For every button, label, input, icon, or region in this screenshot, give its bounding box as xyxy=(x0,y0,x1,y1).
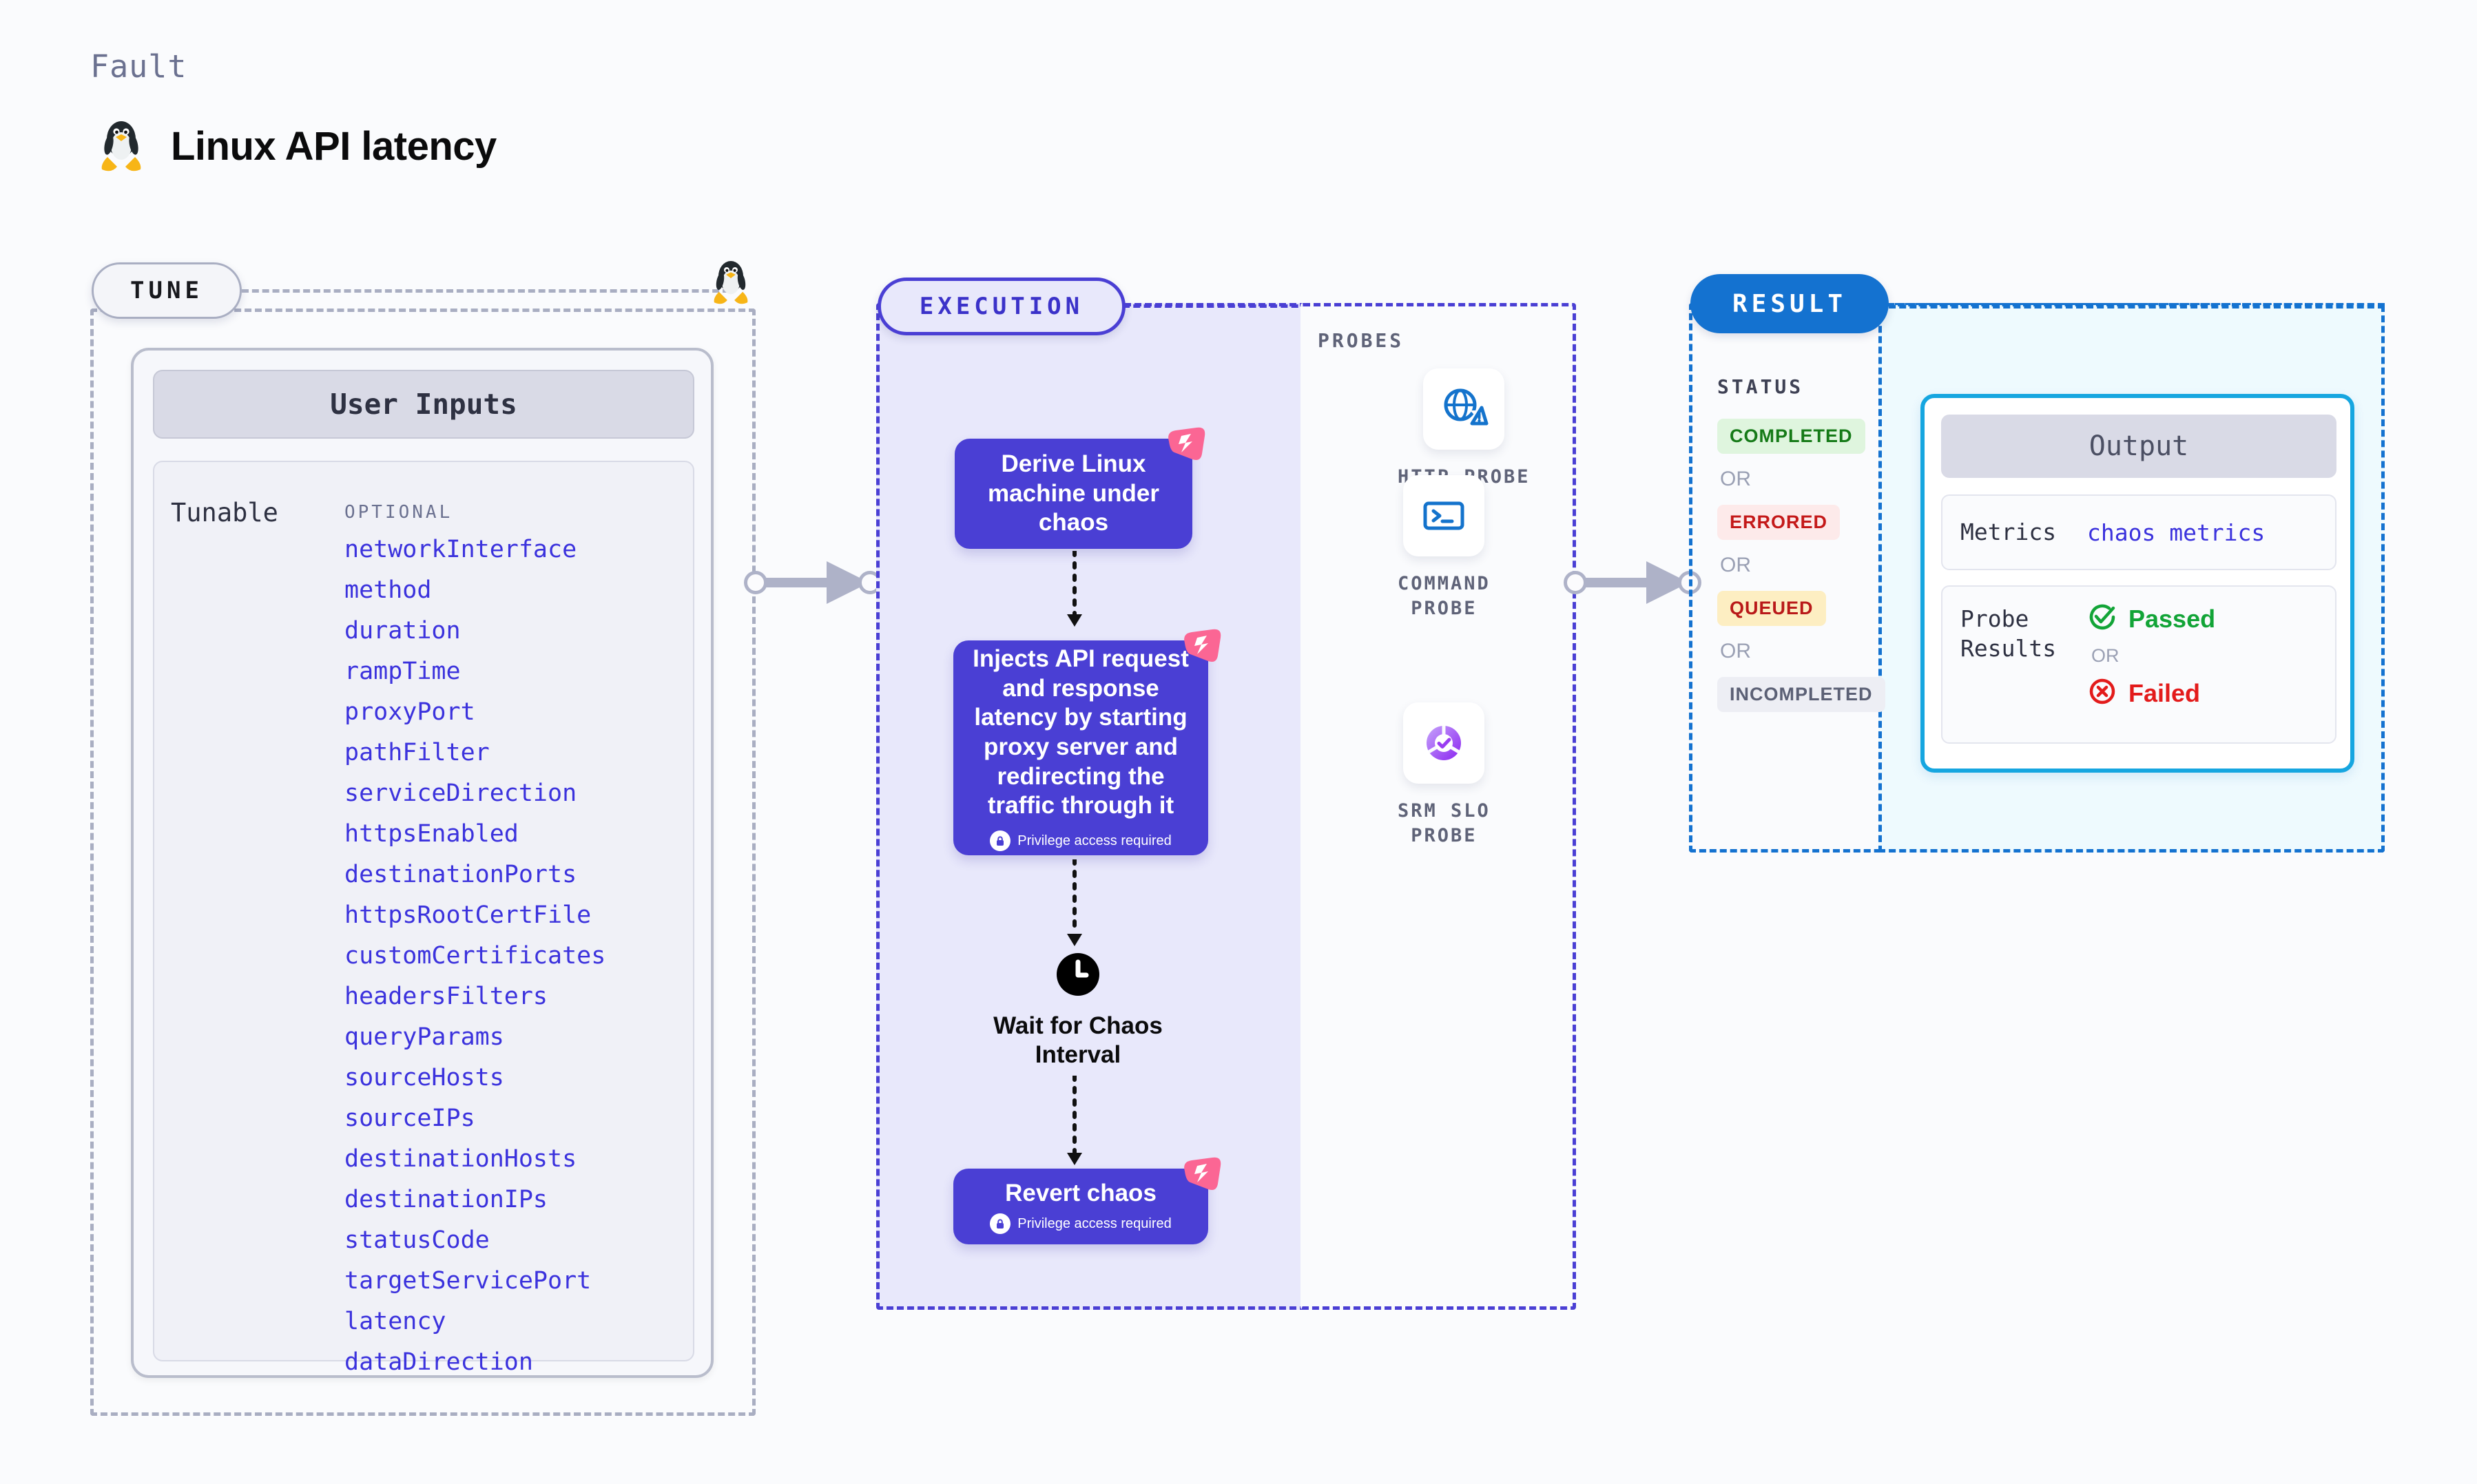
param-item[interactable]: destinationHosts xyxy=(344,1147,689,1171)
slo-donut-check-icon xyxy=(1403,702,1484,784)
linux-penguin-icon-small xyxy=(709,256,752,312)
param-item[interactable]: sourceIPs xyxy=(344,1107,689,1131)
output-row-metrics: Metrics chaos metrics xyxy=(1941,494,2336,570)
privilege-note: Privilege access required xyxy=(990,1213,1171,1234)
probe-results-key-label: Probe Results xyxy=(1942,587,2087,664)
execution-step-derive[interactable]: Derive Linux machine under chaos xyxy=(955,439,1192,549)
probe-results-values: Passed OR Failed xyxy=(2087,587,2215,710)
param-item[interactable]: destinationPorts xyxy=(344,863,689,887)
tune-pill-connector-line xyxy=(242,289,729,293)
x-circle-icon xyxy=(2087,676,2117,710)
result-stage-pill[interactable]: RESULT xyxy=(1690,274,1889,333)
param-item[interactable]: statusCode xyxy=(344,1229,689,1253)
param-item[interactable]: latency xyxy=(344,1310,689,1334)
param-item[interactable]: rampTime xyxy=(344,660,689,684)
execution-pill-connector-line xyxy=(1123,304,1309,308)
status-list: COMPLETED OR ERRORED OR QUEUED OR INCOMP… xyxy=(1717,419,1924,712)
flow-arrow-2 xyxy=(1061,859,1088,951)
param-item[interactable]: duration xyxy=(344,619,689,643)
optional-label: OPTIONAL xyxy=(344,502,453,523)
param-item[interactable]: pathFilter xyxy=(344,741,689,765)
flow-arrow-3 xyxy=(1061,1076,1088,1170)
user-inputs-card-title: User Inputs xyxy=(153,370,694,439)
probe-failed-label: Failed xyxy=(2128,679,2200,708)
param-item[interactable]: proxyPort xyxy=(344,700,689,724)
status-badge-completed: COMPLETED xyxy=(1717,419,1865,454)
probe-http[interactable]: HTTP PROBE xyxy=(1398,368,1531,490)
wait-for-chaos-node[interactable]: Wait for Chaos Interval xyxy=(978,952,1178,1069)
output-card: Output Metrics chaos metrics Probe Resul… xyxy=(1920,394,2354,773)
execution-step-label: Injects API request and response latency… xyxy=(953,645,1208,821)
tunable-label: Tunable xyxy=(171,498,278,527)
diagram-canvas: Fault Linux API latency TUNE xyxy=(0,0,2477,1484)
param-item[interactable]: method xyxy=(344,578,689,603)
lock-icon xyxy=(990,830,1011,851)
linux-penguin-icon xyxy=(96,116,146,176)
tunable-param-list: networkInterface method duration rampTim… xyxy=(344,538,689,1391)
execution-stage-pill[interactable]: EXECUTION xyxy=(878,278,1126,335)
param-item[interactable]: networkInterface xyxy=(344,538,689,562)
param-item[interactable]: httpsRootCertFile xyxy=(344,903,689,928)
param-item[interactable]: targetServicePort xyxy=(344,1269,689,1293)
probe-passed-label: Passed xyxy=(2128,605,2215,634)
probe-label: COMMAND PROBE xyxy=(1398,572,1491,622)
execution-step-inject[interactable]: Injects API request and response latency… xyxy=(953,640,1208,855)
metrics-key-label: Metrics xyxy=(1942,518,2087,547)
status-badge-queued: QUEUED xyxy=(1717,591,1826,626)
status-or-label: OR xyxy=(1720,554,1924,577)
privilege-note: Privilege access required xyxy=(990,830,1171,851)
tunable-params-panel: Tunable OPTIONAL networkInterface method… xyxy=(153,461,694,1361)
user-inputs-card: User Inputs Tunable OPTIONAL networkInte… xyxy=(131,348,714,1378)
connector-tune-to-execution xyxy=(744,561,882,603)
probe-command[interactable]: COMMAND PROBE xyxy=(1398,475,1491,622)
lock-icon xyxy=(990,1213,1011,1234)
privilege-note-label: Privilege access required xyxy=(1017,1216,1171,1232)
page-title: Linux API latency xyxy=(171,123,497,169)
connector-execution-to-result xyxy=(1564,561,1701,603)
clock-icon xyxy=(1055,952,1101,1001)
param-item[interactable]: dataDirection xyxy=(344,1350,689,1375)
param-item[interactable]: queryParams xyxy=(344,1025,689,1049)
probe-label: SRM SLO PROBE xyxy=(1398,799,1491,849)
status-badge-errored: ERRORED xyxy=(1717,505,1840,540)
result-pill-connector-line xyxy=(1887,303,2385,306)
execution-step-label: Derive Linux machine under chaos xyxy=(955,450,1192,538)
probe-result-or-label: OR xyxy=(2091,645,2215,667)
param-item[interactable]: sourceHosts xyxy=(344,1066,689,1090)
status-or-label: OR xyxy=(1720,468,1924,491)
status-badge-incompleted: INCOMPLETED xyxy=(1717,677,1885,712)
execution-step-label: Revert chaos xyxy=(993,1179,1169,1209)
probe-result-passed: Passed xyxy=(2087,602,2215,636)
tune-stage-pill[interactable]: TUNE xyxy=(92,262,242,319)
page-title-row: Linux API latency xyxy=(96,116,497,176)
status-or-label: OR xyxy=(1720,640,1924,663)
param-item[interactable]: headersFilters xyxy=(344,985,689,1009)
terminal-icon xyxy=(1403,475,1484,556)
metrics-value-link[interactable]: chaos metrics xyxy=(2087,519,2265,546)
output-card-title: Output xyxy=(1941,415,2336,478)
param-item[interactable]: serviceDirection xyxy=(344,782,689,806)
globe-warning-icon xyxy=(1423,368,1504,450)
flow-arrow-1 xyxy=(1061,551,1088,631)
wait-for-chaos-label: Wait for Chaos Interval xyxy=(978,1012,1178,1069)
status-title: STATUS xyxy=(1717,375,1803,398)
probes-title: PROBES xyxy=(1318,329,1404,352)
litmus-logo-icon xyxy=(1175,623,1227,678)
privilege-note-label: Privilege access required xyxy=(1017,833,1171,849)
param-item[interactable]: httpsEnabled xyxy=(344,822,689,846)
check-circle-icon xyxy=(2087,602,2117,636)
litmus-logo-icon xyxy=(1159,421,1212,477)
litmus-logo-icon xyxy=(1175,1151,1227,1206)
probe-srm-slo[interactable]: SRM SLO PROBE xyxy=(1398,702,1491,849)
param-item[interactable]: destinationIPs xyxy=(344,1188,689,1212)
output-row-probe-results: Probe Results Passed OR xyxy=(1941,585,2336,744)
param-item[interactable]: customCertificates xyxy=(344,944,689,968)
page-kicker: Fault xyxy=(90,48,187,85)
probe-result-failed: Failed xyxy=(2087,676,2215,710)
execution-step-revert[interactable]: Revert chaos Privilege access required xyxy=(953,1169,1208,1244)
